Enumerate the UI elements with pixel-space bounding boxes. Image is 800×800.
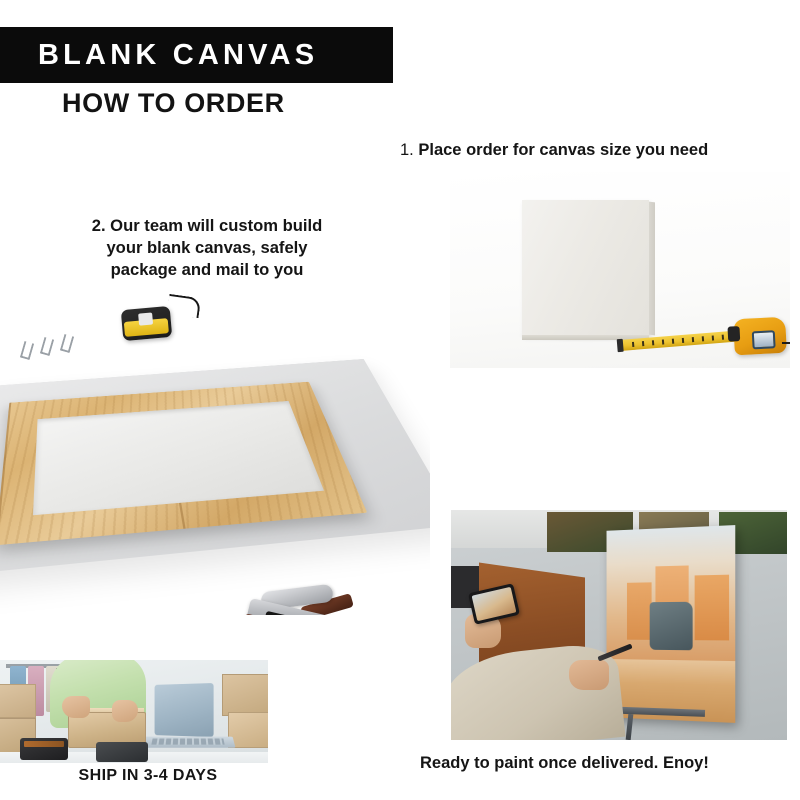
staple-gun-icon bbox=[243, 586, 353, 615]
step-3-text: Ready to paint once delivered. Enoy! bbox=[420, 754, 709, 772]
person-hand-left bbox=[62, 696, 90, 718]
tape-window bbox=[138, 312, 153, 325]
painting-grey-shape bbox=[650, 602, 693, 651]
tablet-device bbox=[96, 742, 148, 762]
artist-painting-hand bbox=[569, 660, 609, 690]
tape-measure-icon bbox=[121, 306, 173, 341]
step-1-text: Place order for canvas size you need bbox=[418, 141, 708, 159]
tape-hook bbox=[617, 339, 624, 352]
phone-screen bbox=[472, 587, 517, 621]
step-3-caption: Ready to paint once delivered. Enoy! bbox=[420, 752, 709, 774]
calculator-icon bbox=[20, 738, 68, 760]
staple-icon bbox=[40, 337, 54, 356]
tape-wrist-cord bbox=[167, 294, 201, 318]
shipping-label: SHIP IN 3-4 DAYS bbox=[48, 765, 248, 786]
painting-building-3 bbox=[695, 575, 729, 641]
brand-title-banner: BLANK CANVAS bbox=[0, 27, 393, 83]
laptop-screen bbox=[155, 683, 214, 737]
laptop-keyboard bbox=[151, 738, 224, 744]
tape-wrist-cord bbox=[782, 332, 790, 344]
blank-canvas-object bbox=[522, 200, 649, 335]
step-2-line-2: your blank canvas, safely bbox=[48, 237, 366, 259]
painting-building-1 bbox=[627, 582, 652, 640]
infographic-page: BLANK CANVAS HOW TO ORDER 1. Place order… bbox=[0, 0, 800, 800]
tape-window bbox=[752, 330, 776, 349]
tape-measure-icon bbox=[733, 317, 787, 356]
staple-icon bbox=[20, 341, 34, 360]
step-3-photo bbox=[451, 510, 787, 740]
painted-canvas bbox=[607, 525, 736, 723]
staple-icon bbox=[60, 334, 74, 353]
shipping-photo bbox=[0, 660, 268, 763]
tape-clip bbox=[727, 326, 740, 342]
brand-title: BLANK CANVAS bbox=[0, 39, 318, 72]
step-2-caption: 2. Our team will custom build your blank… bbox=[48, 215, 366, 282]
step-1-photo bbox=[450, 172, 790, 368]
person-hand-right bbox=[112, 700, 138, 722]
step-1-number: 1. bbox=[400, 141, 414, 159]
step-2-line-3: package and mail to you bbox=[48, 259, 366, 281]
step-2-photo bbox=[0, 290, 430, 615]
stacked-box bbox=[222, 674, 268, 716]
step-1-caption: 1. Place order for canvas size you need bbox=[400, 139, 708, 161]
page-subtitle: HOW TO ORDER bbox=[62, 88, 285, 119]
stacked-box bbox=[0, 684, 36, 718]
step-2-line-1: 2. Our team will custom build bbox=[48, 215, 366, 237]
